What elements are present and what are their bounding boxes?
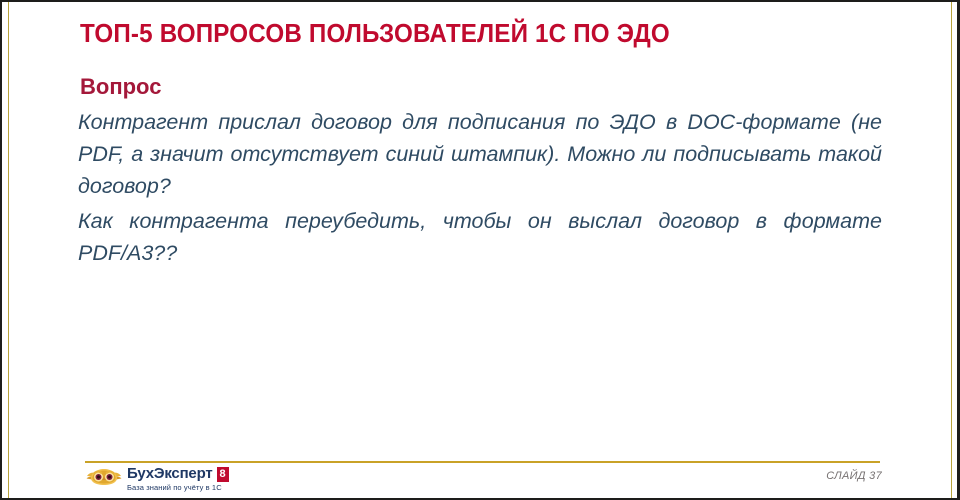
- gold-frame-line-left: [8, 2, 9, 498]
- slide-title: ТОП-5 ВОПРОСОВ ПОЛЬЗОВАТЕЛЕЙ 1С ПО ЭДО: [80, 18, 843, 49]
- slide-canvas: ТОП-5 ВОПРОСОВ ПОЛЬЗОВАТЕЛЕЙ 1С ПО ЭДО В…: [0, 0, 960, 500]
- brand-logo-text: БухЭксперт 8 База знаний по учёту в 1С: [127, 466, 229, 493]
- slide-border-top: [0, 0, 960, 2]
- gold-frame-line-right: [951, 2, 952, 498]
- brand-logo: БухЭксперт 8 База знаний по учёту в 1С: [86, 466, 229, 493]
- owl-icon: [86, 468, 122, 486]
- footer-divider: [85, 461, 880, 463]
- question-paragraph-2: Как контрагента переубедить, чтобы он вы…: [78, 205, 882, 269]
- question-heading: Вопрос: [80, 74, 161, 100]
- slide-number: СЛАЙД 37: [826, 470, 882, 482]
- question-paragraph-1: Контрагент прислал договор для подписани…: [78, 106, 882, 202]
- brand-tagline: База знаний по учёту в 1С: [127, 483, 229, 493]
- question-body: Контрагент прислал договор для подписани…: [78, 106, 882, 269]
- brand-version-badge: 8: [217, 467, 229, 482]
- brand-logo-title-row: БухЭксперт 8: [127, 466, 229, 482]
- brand-name: БухЭксперт: [127, 466, 213, 482]
- slide-border-left: [0, 0, 2, 500]
